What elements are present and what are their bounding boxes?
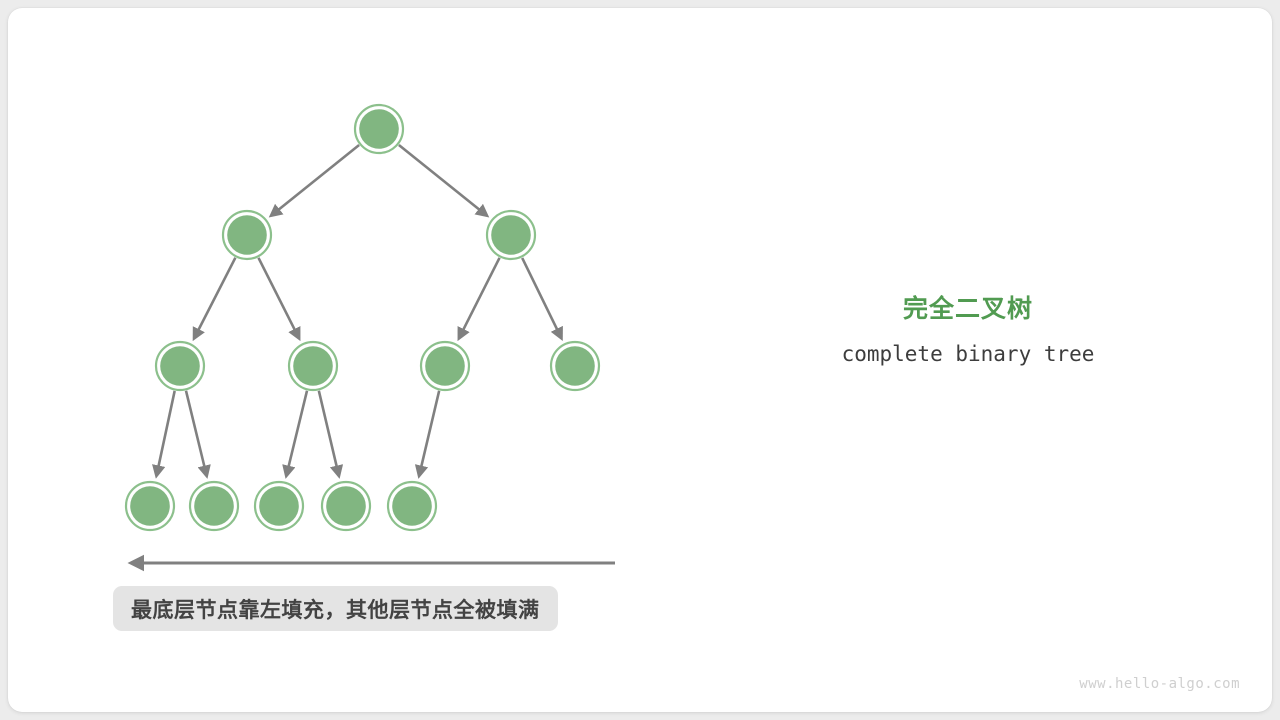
tree-edge-layer [156, 145, 561, 476]
tree-edge [194, 258, 235, 339]
tree-node [223, 211, 271, 259]
tree-node [126, 482, 174, 530]
tree-node-fill [194, 486, 234, 526]
tree-edge [271, 145, 359, 216]
tree-node-fill [425, 346, 465, 386]
diagram-canvas: 完全二叉树 complete binary tree 最底层节点靠左填充，其他层… [0, 0, 1280, 720]
caption-badge: 最底层节点靠左填充，其他层节点全被填满 [113, 586, 558, 631]
tree-edge [399, 145, 487, 216]
tree-node-fill [293, 346, 333, 386]
tree-edge [156, 391, 174, 476]
tree-edge [258, 258, 299, 339]
tree-node-fill [130, 486, 170, 526]
tree-node [388, 482, 436, 530]
page-subtitle: complete binary tree [768, 340, 1168, 368]
tree-node [255, 482, 303, 530]
tree-node-fill [227, 215, 267, 255]
tree-edge [419, 391, 439, 476]
tree-node-fill [359, 109, 399, 149]
tree-edge [286, 391, 307, 476]
tree-node [289, 342, 337, 390]
tree-node [190, 482, 238, 530]
tree-edge [459, 258, 500, 339]
tree-node [156, 342, 204, 390]
tree-node [421, 342, 469, 390]
tree-node [487, 211, 535, 259]
tree-node [355, 105, 403, 153]
tree-node-fill [392, 486, 432, 526]
tree-node-layer [126, 105, 599, 530]
tree-node-fill [555, 346, 595, 386]
tree-node-fill [491, 215, 531, 255]
tree-title-block: 完全二叉树 complete binary tree [768, 292, 1168, 368]
tree-node-fill [160, 346, 200, 386]
tree-edge [186, 391, 207, 476]
page-title: 完全二叉树 [768, 292, 1168, 326]
watermark: www.hello-algo.com [1079, 676, 1240, 692]
tree-node-fill [326, 486, 366, 526]
tree-node [322, 482, 370, 530]
tree-node-fill [259, 486, 299, 526]
tree-edge [319, 391, 339, 476]
tree-node [551, 342, 599, 390]
tree-edge [522, 258, 561, 338]
caption-text: 最底层节点靠左填充，其他层节点全被填满 [131, 594, 540, 624]
